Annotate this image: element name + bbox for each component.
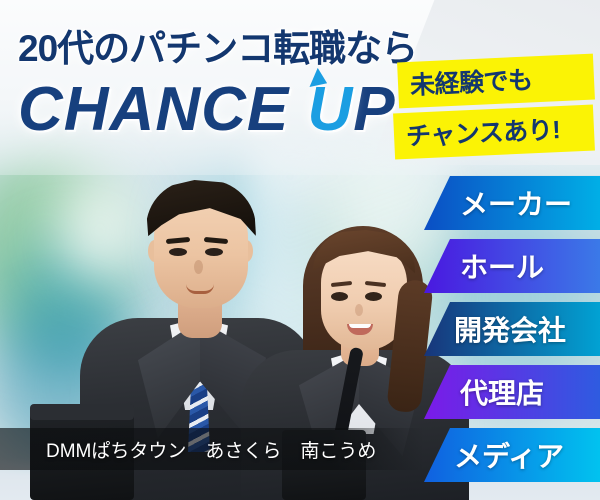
promo-badge-line1: 未経験でも xyxy=(397,54,595,109)
category-button-maker[interactable]: メーカー xyxy=(424,176,600,230)
category-label: 開発会社 xyxy=(424,309,566,349)
headline-text: 20代のパチンコ転職なら xyxy=(18,18,448,72)
logo-word-chance: CHANCE xyxy=(18,75,307,144)
logo-chance-up: CHANCE UP xyxy=(18,74,438,146)
category-label: メディア xyxy=(424,435,564,475)
promo-badge: 未経験でも チャンスあり! xyxy=(398,58,594,155)
category-button-agency[interactable]: 代理店 xyxy=(424,365,600,419)
category-label: メーカー xyxy=(424,183,572,223)
ad-banner[interactable]: 20代のパチンコ転職なら CHANCE UP 未経験でも チャンスあり! メーカ… xyxy=(0,0,600,500)
logo-letter-u: U xyxy=(307,74,353,146)
credit-text: DMMぱちタウン あさくら 南こうめ xyxy=(0,436,376,463)
category-button-hall[interactable]: ホール xyxy=(424,239,600,293)
credit-bar: DMMぱちタウン あさくら 南こうめ xyxy=(0,428,424,470)
category-button-media[interactable]: メディア xyxy=(424,428,600,482)
category-button-developer[interactable]: 開発会社 xyxy=(424,302,600,356)
category-label: ホール xyxy=(424,246,544,286)
promo-badge-line2: チャンスあり! xyxy=(393,104,595,159)
category-label: 代理店 xyxy=(424,372,544,412)
logo-letter-p: P xyxy=(353,75,395,144)
